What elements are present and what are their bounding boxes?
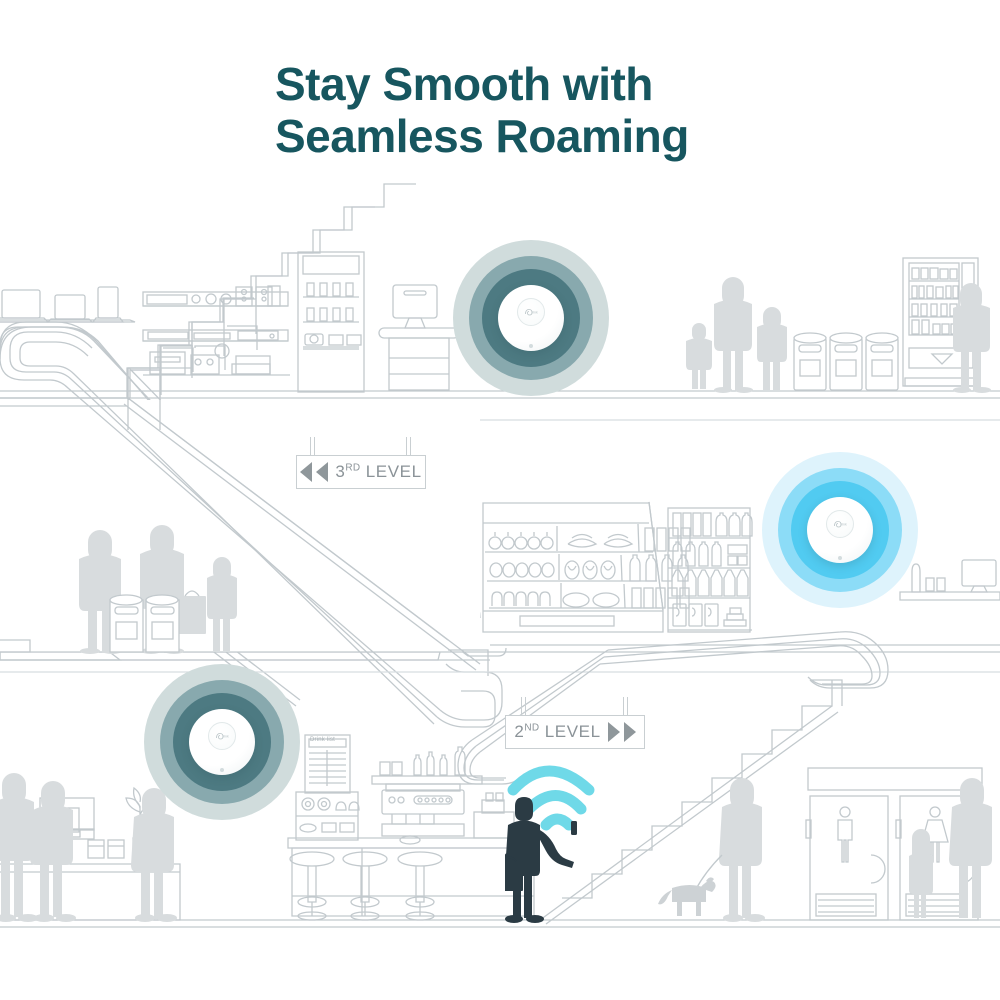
shoppers-3f xyxy=(686,277,787,393)
access-point-bottom-left[interactable]: link xyxy=(144,664,300,820)
sign-arrows-left xyxy=(300,462,328,482)
roaming-user xyxy=(505,757,645,937)
checkout-counter-3f xyxy=(379,285,459,390)
illustration-canvas: Stay Smooth with Seamless Roaming .l {fi… xyxy=(0,0,1000,1000)
cafe-area xyxy=(288,735,538,920)
svg-text:link: link xyxy=(223,735,229,739)
sign-arrows-right xyxy=(608,722,636,742)
sign-rod-left xyxy=(521,697,526,716)
ap-status-led xyxy=(529,344,533,348)
trash-bins-3f xyxy=(794,333,898,390)
access-point-top-left[interactable]: link xyxy=(453,240,609,396)
arrow-left-icon xyxy=(316,462,328,482)
sign-rod-left xyxy=(310,437,315,456)
grocery-open-cooler xyxy=(483,502,690,632)
businessman-silhouette xyxy=(505,797,577,923)
ap-status-led xyxy=(220,768,224,772)
ap-device-inner-ring: link xyxy=(517,298,545,326)
arrow-right-icon xyxy=(608,722,620,742)
ap-status-led xyxy=(838,556,842,560)
sign-label-3rd: 3RD LEVEL xyxy=(335,462,421,482)
electronics-av-shelves xyxy=(143,286,290,375)
svg-text:link: link xyxy=(532,311,538,315)
electronics-laptop-display xyxy=(0,287,135,322)
roaming-user-figure xyxy=(505,757,645,932)
tp-link-logo: link xyxy=(833,519,848,528)
tp-link-logo: link xyxy=(215,731,230,740)
cafe-menu-title: Drink list xyxy=(310,737,350,743)
arrow-right-icon xyxy=(624,722,636,742)
sign-plate: 3RD LEVEL xyxy=(296,455,426,489)
sign-rod-right xyxy=(623,697,628,716)
sign-plate: 2ND LEVEL xyxy=(505,715,645,749)
escalator-upper-clean xyxy=(0,184,502,727)
ap-device-inner-ring: link xyxy=(826,510,854,538)
arrow-left-icon xyxy=(300,462,312,482)
tp-link-logo: link xyxy=(524,307,539,316)
sign-rod-right xyxy=(406,437,411,456)
restroom-queue xyxy=(909,778,992,918)
sign-label-2nd: 2ND LEVEL xyxy=(514,722,600,742)
ap-device-inner-ring: link xyxy=(208,722,236,750)
grocery-shelf-unit xyxy=(668,508,752,632)
svg-text:link: link xyxy=(841,523,847,527)
access-point-middle-right[interactable]: link xyxy=(762,452,918,608)
phone-display-cabinet xyxy=(298,252,364,392)
